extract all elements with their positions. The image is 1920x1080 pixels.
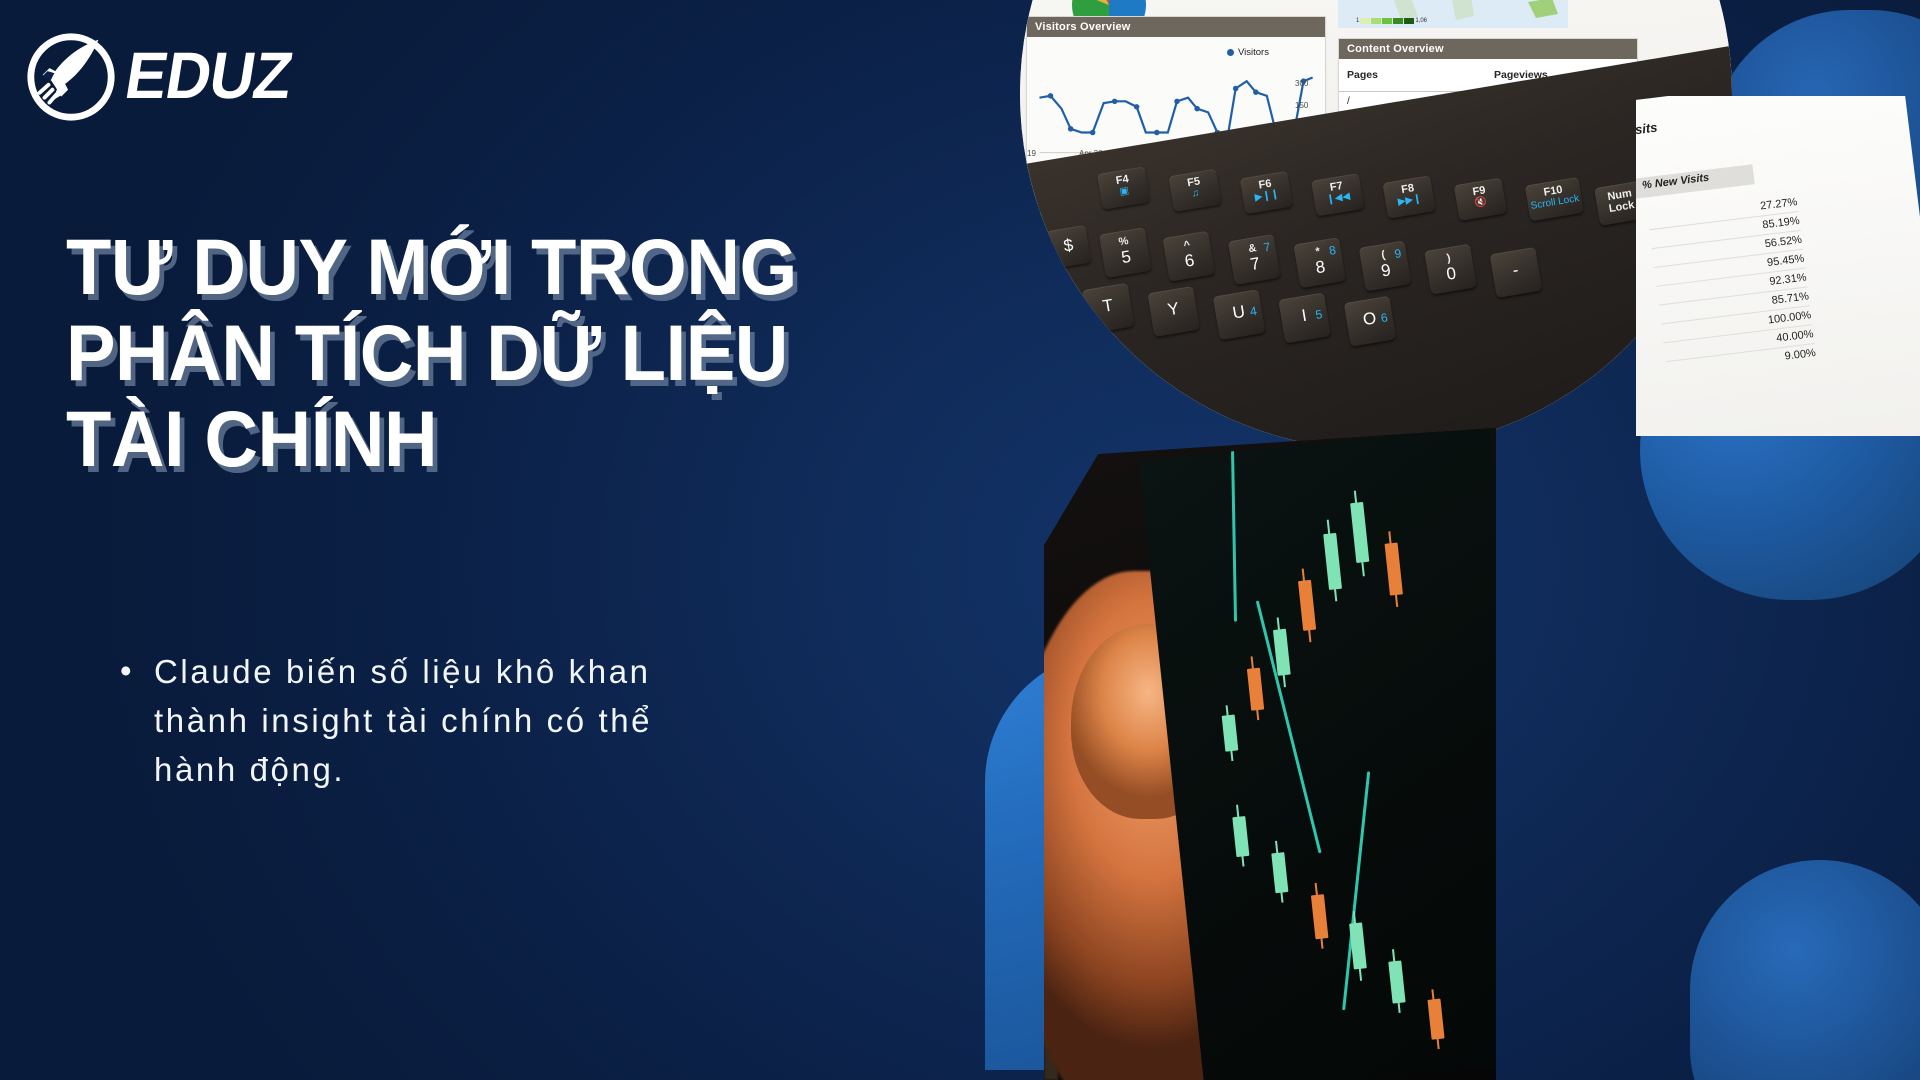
body-bullet-list: Claude biến số liệu khô khan thành insig… — [118, 648, 738, 794]
candle — [1310, 894, 1328, 939]
legend-dot-icon — [1227, 49, 1234, 56]
page-title-line-3: TÀI CHÍNH — [66, 400, 818, 478]
key-f9[interactable]: F9 🔇 — [1454, 178, 1507, 221]
candle — [1232, 816, 1249, 857]
page-title-line-2: PHÂN TÍCH DỮ LIỆU — [66, 314, 818, 392]
slide-canvas: EDUZ TƯ DUY MỚI TRONG PHÂN TÍCH DỮ LIỆU … — [0, 0, 1920, 1080]
y-tick-300: 300 — [1295, 79, 1308, 88]
candle — [1298, 580, 1316, 631]
decorative-blob-bottom-right — [1690, 860, 1920, 1080]
visitors-legend: Visitors — [1227, 47, 1269, 58]
candle — [1349, 922, 1367, 969]
key-dollar[interactable]: $ — [1046, 225, 1092, 269]
candle — [1427, 999, 1444, 1040]
key-8[interactable]: * 8 8 — [1294, 238, 1347, 289]
visitors-overview-title: Visitors Overview — [1027, 17, 1325, 37]
new-visits-title: Visits — [1636, 120, 1658, 139]
new-visits-sheet-photo: Visits 09%) % New Visits 27.27% 85.19% 5… — [1636, 96, 1920, 436]
page-title: TƯ DUY MỚI TRONG PHÂN TÍCH DỮ LIỆU TÀI C… — [66, 228, 866, 487]
candle — [1221, 715, 1238, 752]
hand-holding-phone-candlestick-chart-photo — [1044, 428, 1496, 1080]
trend-line — [1230, 442, 1236, 622]
key-y[interactable]: Y — [1148, 286, 1201, 337]
rocket-in-circle-icon — [22, 28, 120, 126]
brand-wordmark: EDUZ — [121, 44, 296, 110]
key-t[interactable]: T — [1082, 283, 1135, 334]
y-tick-150: 150 — [1295, 101, 1308, 110]
x-tick-19: 19 — [1027, 149, 1036, 158]
google-analytics-printout-photo: Referring Sites 1,642.00 (21.47%) Visito… — [1020, 0, 1732, 450]
key-7[interactable]: & 7 7 — [1228, 234, 1281, 285]
candle — [1384, 543, 1402, 596]
candle — [1350, 502, 1369, 563]
brand-logo[interactable]: EDUZ — [22, 28, 291, 126]
key-9[interactable]: ( 9 9 — [1359, 241, 1412, 292]
key-f4[interactable]: F4 ▣ — [1097, 167, 1150, 210]
candle — [1271, 852, 1288, 893]
page-title-line-1: TƯ DUY MỚI TRONG — [66, 228, 818, 306]
key-f10[interactable]: F10 Scroll Lock — [1525, 177, 1584, 221]
key-f7[interactable]: F7 ❙◀◀ — [1311, 173, 1364, 216]
content-overview-title: Content Overview — [1339, 39, 1637, 59]
candle — [1388, 960, 1405, 1003]
list-item: Claude biến số liệu khô khan thành insig… — [118, 648, 738, 794]
key-u[interactable]: U 4 — [1213, 290, 1266, 341]
key-f8[interactable]: F8 ▶▶❙ — [1383, 176, 1436, 219]
key-f6[interactable]: F6 ▶❙❙ — [1240, 171, 1293, 214]
key-i[interactable]: I 5 — [1279, 293, 1332, 344]
col-pages: Pages — [1339, 59, 1486, 92]
key-minus[interactable]: - — [1490, 247, 1543, 298]
key-6[interactable]: ^ 6 — [1163, 231, 1216, 282]
key-f5[interactable]: F5 ♫ — [1169, 169, 1222, 212]
trend-line — [1255, 600, 1321, 853]
key-o[interactable]: O 6 — [1344, 296, 1397, 347]
trend-line — [1342, 771, 1370, 1010]
key-0[interactable]: ) 0 — [1424, 244, 1477, 295]
key-5[interactable]: % 5 — [1099, 227, 1152, 278]
world-map-overlay: 1 1,06 — [1338, 0, 1568, 28]
map-heat-legend: 1 1,06 — [1356, 18, 1427, 24]
candle — [1323, 533, 1342, 590]
candle — [1246, 668, 1263, 711]
